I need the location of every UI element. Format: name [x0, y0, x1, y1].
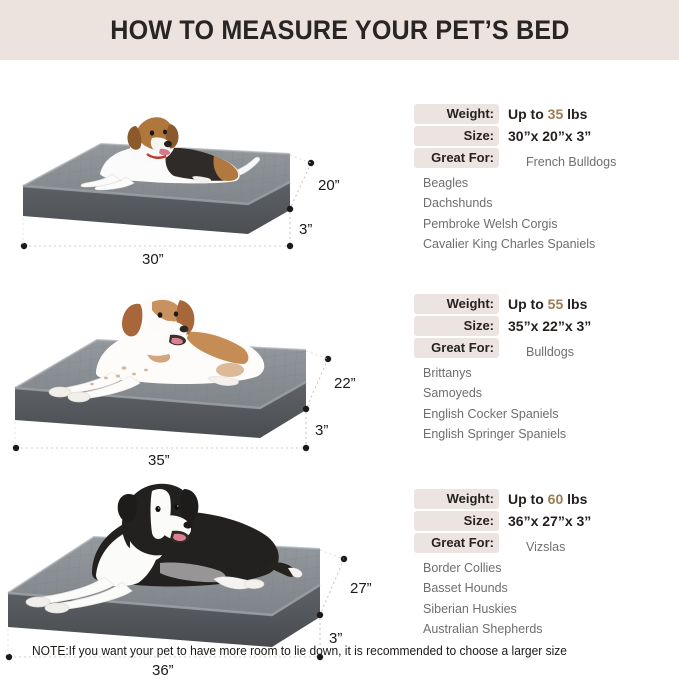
spec-weight-label: Weight:: [414, 104, 499, 124]
spec-panel-medium: Weight: Up to 55 lbs Size: 35”x 22”x 3” …: [405, 272, 679, 467]
size-chart-rows: 20” 3” 30” Weight: Up to 35 lbs: [0, 60, 679, 638]
dimension-dot: [287, 243, 293, 249]
spec-size-label: Size:: [414, 511, 499, 531]
bed-illustration-small: 20” 3” 30”: [0, 82, 405, 272]
breed-list-medium: Bulldogs Brittanys Samoyeds English Cock…: [414, 360, 679, 445]
spec-great-for-label: Great For:: [414, 338, 499, 358]
dimension-dot: [21, 243, 27, 249]
dimension-dot: [6, 654, 12, 660]
dimension-dot: [303, 445, 309, 451]
weight-number: 55: [548, 296, 564, 312]
spec-size-label: Size:: [414, 126, 499, 146]
weight-suffix: lbs: [563, 491, 587, 507]
dimension-dot: [317, 612, 323, 618]
breed-item: English Springer Spaniels: [423, 424, 679, 445]
breed-item: Pembroke Welsh Corgis: [423, 214, 679, 235]
spec-size-value: 30”x 20”x 3”: [499, 126, 591, 146]
spec-size-value: 36”x 27”x 3”: [499, 511, 591, 531]
page-header: HOW TO MEASURE YOUR PET’S BED: [0, 0, 679, 60]
spec-weight-value: Up to 55 lbs: [499, 294, 587, 314]
dimension-depth-label: 27”: [350, 580, 372, 597]
weight-number: 35: [548, 106, 564, 122]
bed-illustration-medium: 22” 3” 35”: [0, 272, 405, 467]
spec-size: Size: 30”x 20”x 3”: [414, 126, 679, 146]
spec-size-label: Size:: [414, 316, 499, 336]
breed-item: Samoyeds: [423, 383, 679, 404]
breed-item: Brittanys: [423, 363, 679, 384]
spec-great-for-label: Great For:: [414, 148, 499, 168]
dimension-width-label: 36”: [152, 662, 174, 679]
spec-weight: Weight: Up to 35 lbs: [414, 104, 679, 124]
breed-item: French Bulldogs: [517, 152, 679, 173]
dimension-dot: [287, 206, 293, 212]
dimension-depth-label: 22”: [334, 375, 356, 392]
breed-item: Dachshunds: [423, 193, 679, 214]
bed-diagram-small: 20” 3” 30”: [0, 82, 405, 272]
spec-panel-small: Weight: Up to 35 lbs Size: 30”x 20”x 3” …: [405, 82, 679, 272]
size-row-medium: 22” 3” 35” Weight: Up to 55 lbs Size: 35…: [0, 272, 679, 467]
dimension-depth-label: 20”: [318, 177, 340, 194]
spec-size: Size: 35”x 22”x 3”: [414, 316, 679, 336]
weight-prefix: Up to: [508, 491, 548, 507]
spec-weight-value: Up to 35 lbs: [499, 104, 587, 124]
dimension-height-label: 3”: [315, 422, 328, 439]
footer-note: NOTE:If you want your pet to have more r…: [32, 644, 567, 658]
breed-item: Border Collies: [423, 558, 679, 579]
breed-item: Australian Shepherds: [423, 619, 679, 640]
weight-suffix: lbs: [563, 296, 587, 312]
breed-item: Cavalier King Charles Spaniels: [423, 234, 679, 255]
dimension-width-label: 35”: [148, 452, 170, 467]
dimension-height-label: 3”: [299, 221, 312, 238]
spec-great-for-label: Great For:: [414, 533, 499, 553]
breed-item: English Cocker Spaniels: [423, 404, 679, 425]
spec-weight-label: Weight:: [414, 294, 499, 314]
breed-item: Siberian Huskies: [423, 599, 679, 620]
spec-size: Size: 36”x 27”x 3”: [414, 511, 679, 531]
breed-item: Beagles: [423, 173, 679, 194]
weight-number: 60: [548, 491, 564, 507]
breed-item: Vizslas: [517, 537, 679, 558]
spec-weight: Weight: Up to 55 lbs: [414, 294, 679, 314]
breed-item: Bulldogs: [517, 342, 679, 363]
breed-list-small: French Bulldogs Beagles Dachshunds Pembr…: [414, 170, 679, 255]
size-row-small: 20” 3” 30” Weight: Up to 35 lbs: [0, 82, 679, 272]
spec-weight-value: Up to 60 lbs: [499, 489, 587, 509]
weight-prefix: Up to: [508, 106, 548, 122]
bed-diagram-medium: 22” 3” 35”: [0, 272, 405, 467]
dimension-dot: [13, 445, 19, 451]
spec-size-value: 35”x 22”x 3”: [499, 316, 591, 336]
weight-prefix: Up to: [508, 296, 548, 312]
dimension-dot: [303, 406, 309, 412]
breed-item: Basset Hounds: [423, 578, 679, 599]
dimension-width-label: 30”: [142, 251, 164, 268]
weight-suffix: lbs: [563, 106, 587, 122]
page-title: HOW TO MEASURE YOUR PET’S BED: [110, 15, 569, 46]
breed-list-large: Vizslas Border Collies Basset Hounds Sib…: [414, 555, 679, 640]
spec-weight-label: Weight:: [414, 489, 499, 509]
spec-weight: Weight: Up to 60 lbs: [414, 489, 679, 509]
